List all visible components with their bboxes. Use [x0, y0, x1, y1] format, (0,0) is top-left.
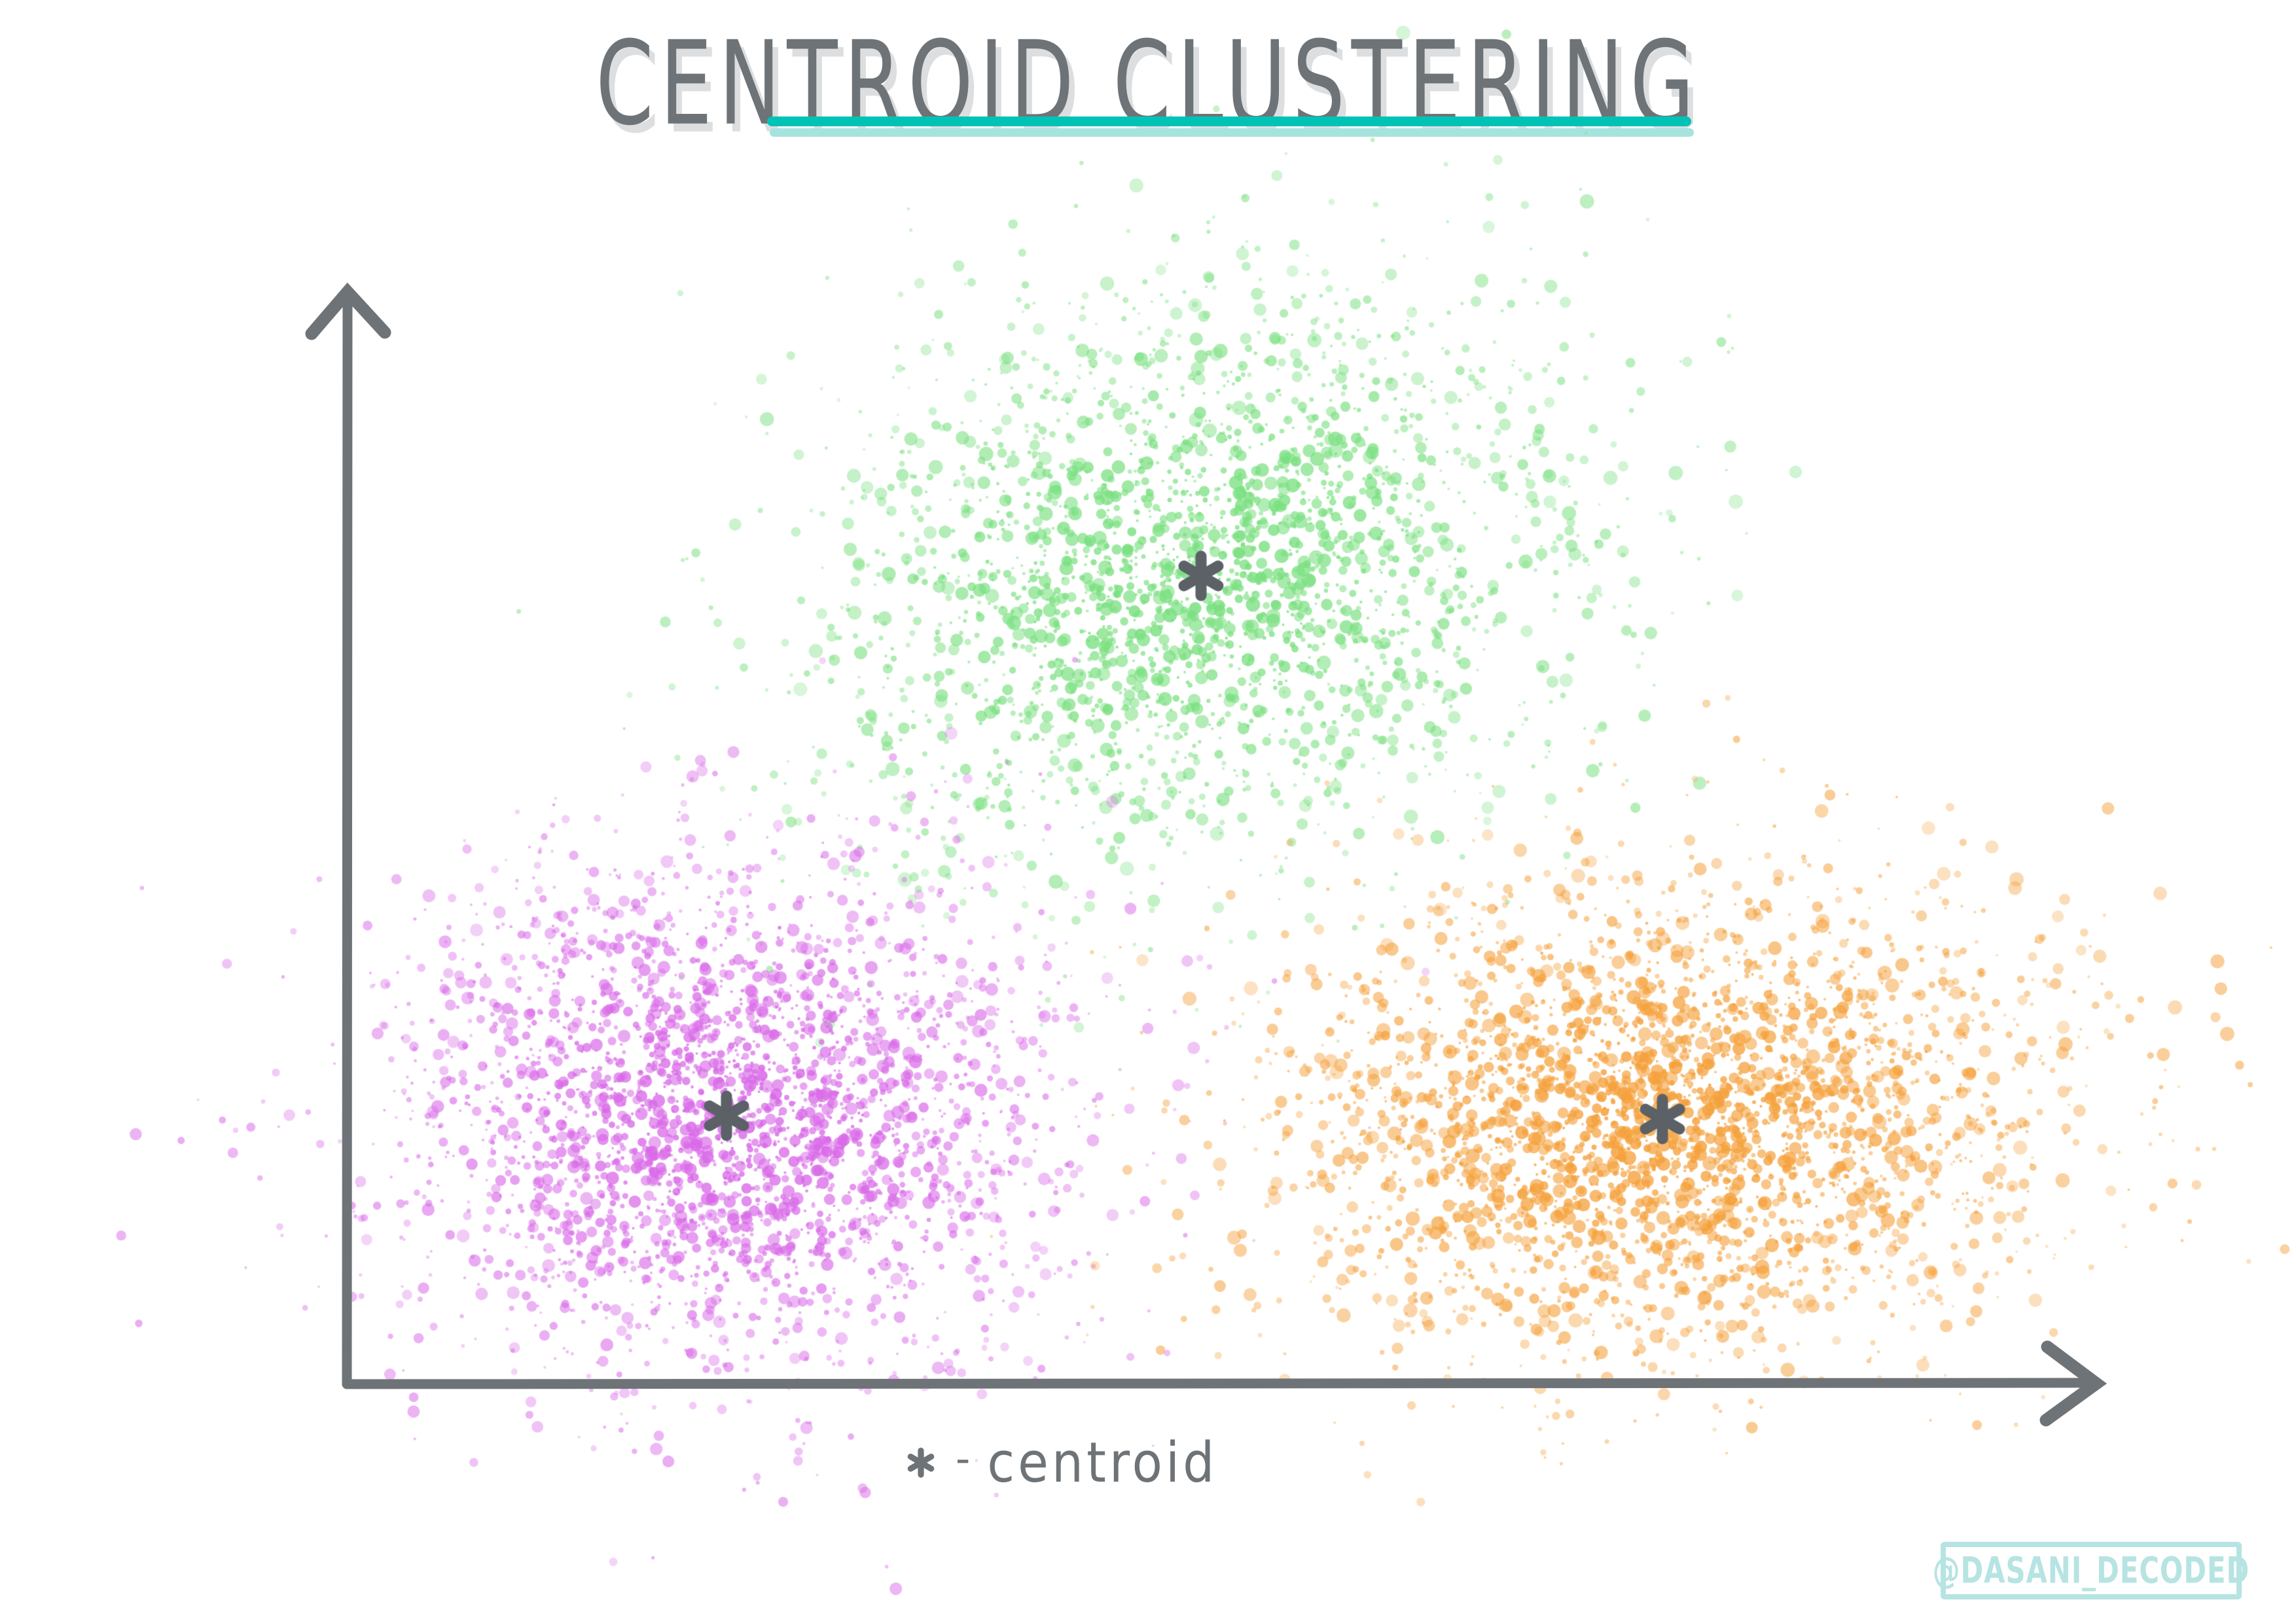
x-axis-line — [347, 1383, 2092, 1384]
scatter-plot — [0, 0, 2296, 1623]
legend-label: centroid — [987, 1430, 1217, 1495]
legend-dash: - — [956, 1438, 970, 1479]
watermark-badge: @DASANI_DECODED — [1941, 1542, 2242, 1599]
asterisk-icon — [903, 1445, 939, 1480]
legend: - centroid — [903, 1433, 1217, 1491]
plot-axes — [0, 0, 2296, 1623]
watermark-text: @DASANI_DECODED — [1933, 1550, 2250, 1592]
y-axis-line — [347, 296, 348, 1384]
